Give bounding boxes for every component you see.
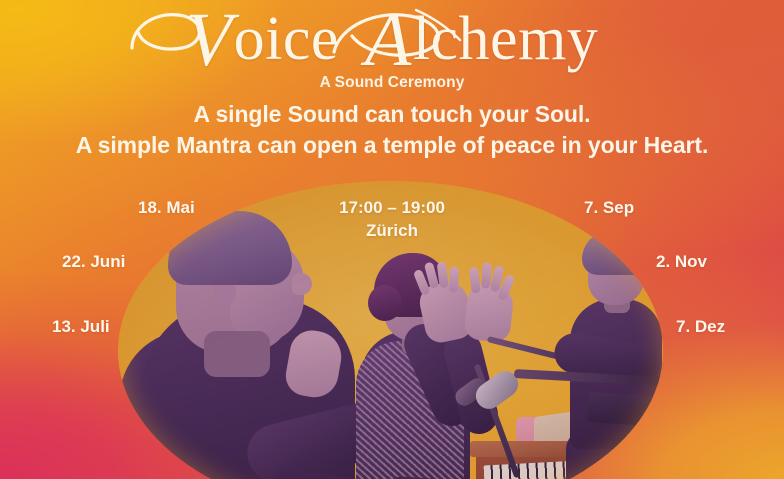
date-7-dez: 7. Dez bbox=[676, 317, 725, 337]
woman-right-hand bbox=[463, 283, 515, 344]
title-rest-lchemy: lchemy bbox=[413, 5, 599, 73]
page-title: VoiceAlchemy bbox=[0, 2, 784, 80]
date-2-nov: 2. Nov bbox=[656, 252, 707, 272]
title-rest-oice: oice bbox=[234, 5, 339, 73]
event-time: 17:00 – 19:00 bbox=[0, 197, 784, 220]
tagline-line-1: A single Sound can touch your Soul. bbox=[0, 99, 784, 130]
date-18-mai: 18. Mai bbox=[138, 198, 195, 218]
title-word-voice: Voice bbox=[186, 2, 339, 80]
left-man-nose bbox=[292, 273, 312, 295]
finger bbox=[437, 261, 449, 288]
finger bbox=[469, 267, 481, 294]
woman-hair-bun bbox=[368, 285, 402, 321]
subtitle: A Sound Ceremony bbox=[0, 74, 784, 92]
left-man-neck bbox=[204, 331, 270, 377]
title-letter-a: A bbox=[365, 0, 413, 82]
tagline: A single Sound can touch your Soul. A si… bbox=[0, 99, 784, 160]
finger bbox=[449, 266, 459, 292]
title-word-alchemy: Alchemy bbox=[339, 2, 598, 80]
event-city: Zürich bbox=[0, 220, 784, 243]
keyboard-slab bbox=[587, 392, 663, 428]
date-7-sep: 7. Sep bbox=[584, 198, 634, 218]
date-22-juni: 22. Juni bbox=[62, 252, 125, 272]
title-letter-v: V bbox=[186, 0, 234, 82]
event-poster: VoiceAlchemy A Sound Ceremony A single S… bbox=[0, 0, 784, 479]
tagline-line-2: A simple Mantra can open a temple of pea… bbox=[0, 130, 784, 161]
date-13-juli: 13. Juli bbox=[52, 317, 110, 337]
time-location-block: 17:00 – 19:00 Zürich bbox=[0, 197, 784, 242]
